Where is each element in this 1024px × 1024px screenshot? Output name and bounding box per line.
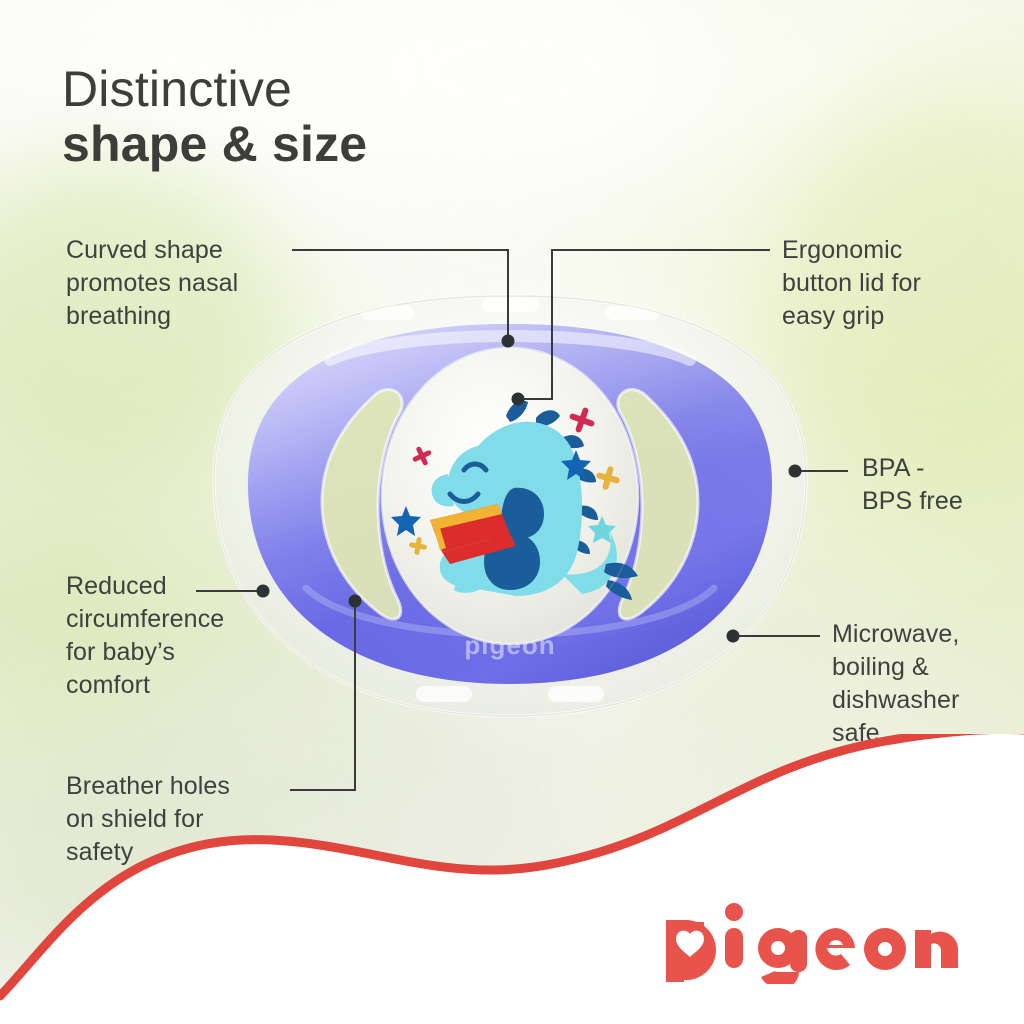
brand-logo-pigeon <box>660 898 960 984</box>
callout-ergonomic-button-lid: Ergonomic button lid for easy grip <box>782 234 1012 333</box>
callout-curved-shape: Curved shape promotes nasal breathing <box>66 234 296 333</box>
leader-curved-shape <box>292 250 508 336</box>
infographic-canvas: Distinctive shape & size <box>0 0 1024 1024</box>
leader-dots <box>257 335 802 643</box>
callout-bpa-bps-free: BPA - BPS free <box>862 452 1022 518</box>
leader-dot-breather-holes <box>349 595 362 608</box>
callout-microwave-safe: Microwave, boiling & dishwasher safe <box>832 618 1024 750</box>
callout-reduced-circumference: Reduced circumference for baby’s comfort <box>66 570 296 702</box>
leader-dot-curved-shape <box>502 335 515 348</box>
leader-dot-ergonomic <box>512 393 525 406</box>
leader-dot-microwave <box>727 630 740 643</box>
leader-dot-bpa <box>789 465 802 478</box>
leader-ergonomic <box>524 250 770 399</box>
